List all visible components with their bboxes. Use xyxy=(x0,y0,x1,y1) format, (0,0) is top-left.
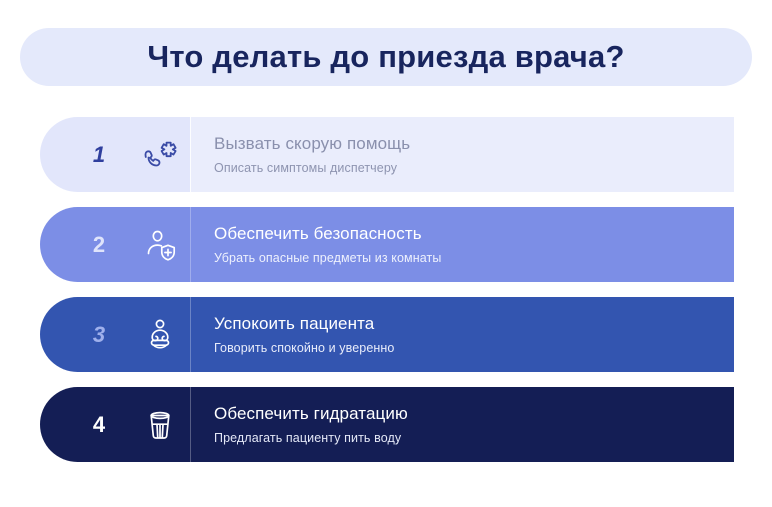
step-subtitle: Описать симптомы диспетчеру xyxy=(214,161,718,175)
step-row: 3 Успокоить пациента Говорить спокойно и… xyxy=(40,297,734,372)
step-number: 2 xyxy=(88,234,110,256)
step-subtitle: Убрать опасные предметы из комнаты xyxy=(214,251,718,265)
step-number: 4 xyxy=(88,414,110,436)
meditating-person-icon xyxy=(140,315,180,355)
step-number-block: 3 xyxy=(40,297,190,372)
step-divider xyxy=(190,297,191,372)
infographic-poster: Что делать до приезда врача? 1 Вызвать с… xyxy=(0,0,772,507)
step-text-block: Вызвать скорую помощь Описать симптомы д… xyxy=(190,117,734,192)
step-number-block: 1 xyxy=(40,117,190,192)
step-number: 3 xyxy=(88,324,110,346)
step-number-block: 4 xyxy=(40,387,190,462)
water-glass-icon xyxy=(140,405,180,445)
step-number: 1 xyxy=(88,144,110,166)
step-text-block: Обеспечить безопасность Убрать опасные п… xyxy=(190,207,734,282)
step-row: 2 Обеспечить безопасность Убрать опасные… xyxy=(40,207,734,282)
title-banner: Что делать до приезда врача? xyxy=(20,28,752,86)
person-shield-plus-icon xyxy=(140,225,180,265)
step-row: 4 Обеспечить гидратацию Предлагать пацие… xyxy=(40,387,734,462)
step-subtitle: Предлагать пациенту пить воду xyxy=(214,431,718,445)
step-text-block: Обеспечить гидратацию Предлагать пациент… xyxy=(190,387,734,462)
step-number-block: 2 xyxy=(40,207,190,282)
page-title: Что делать до приезда врача? xyxy=(147,39,624,75)
step-divider xyxy=(190,207,191,282)
step-title: Обеспечить гидратацию xyxy=(214,404,718,424)
step-subtitle: Говорить спокойно и уверенно xyxy=(214,341,718,355)
step-title: Обеспечить безопасность xyxy=(214,224,718,244)
step-title: Успокоить пациента xyxy=(214,314,718,334)
step-divider xyxy=(190,117,191,192)
steps-list: 1 Вызвать скорую помощь Описать симптомы… xyxy=(40,117,734,462)
step-divider xyxy=(190,387,191,462)
step-text-block: Успокоить пациента Говорить спокойно и у… xyxy=(190,297,734,372)
step-row: 1 Вызвать скорую помощь Описать симптомы… xyxy=(40,117,734,192)
emergency-call-icon xyxy=(140,135,180,175)
step-title: Вызвать скорую помощь xyxy=(214,134,718,154)
